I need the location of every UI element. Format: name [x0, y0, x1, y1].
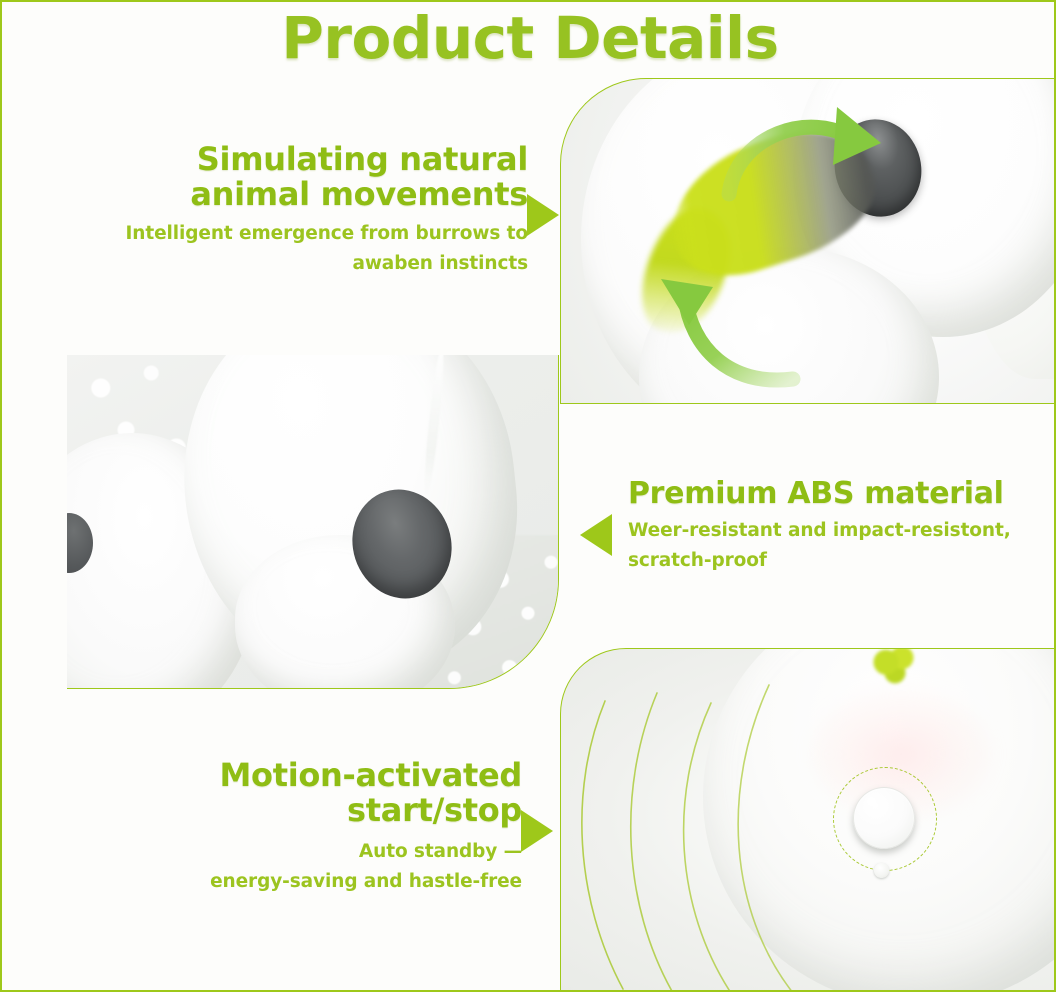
feature-heading-burrow: Simulating natural animal movements: [88, 142, 528, 211]
feature-subtext-burrow: Intelligent emergence from burrows to aw…: [88, 219, 528, 279]
arrow-right-icon-motion: [521, 810, 553, 852]
arrow-right-icon-burrow: [527, 194, 559, 236]
heading-line-1: Simulating natural: [88, 142, 528, 177]
subtext-line-1: Intelligent emergence from burrows to: [88, 219, 528, 249]
subtext-line-2: awaben instincts: [88, 249, 528, 279]
feature-image-motion: [560, 648, 1056, 992]
heading-line-2: start/stop: [92, 793, 522, 828]
power-button[interactable]: [853, 787, 915, 849]
feature-text-motion: Motion-activated start/stop Auto standby…: [92, 758, 522, 897]
status-led: [874, 863, 889, 878]
green-tuft: [871, 648, 921, 685]
subtext-line-1: Auto standby —: [92, 837, 522, 867]
feature-heading-motion: Motion-activated start/stop: [92, 758, 522, 827]
subtext-line-1: Weer-resistant and impact-resistont,: [628, 516, 1048, 546]
feature-heading-abs: Premium ABS material: [628, 478, 1048, 510]
product-details-infographic: Product Details: [0, 0, 1056, 992]
feature-text-abs: Premium ABS material Weer-resistant and …: [628, 478, 1048, 576]
heading-line-2: animal movements: [88, 177, 528, 212]
signal-waves-icon: [561, 649, 1056, 992]
feature-text-burrow: Simulating natural animal movements Inte…: [88, 142, 528, 279]
button-highlight: [867, 797, 876, 806]
arrow-left-icon-abs: [580, 514, 612, 556]
motion-arrows-icon: [561, 79, 1056, 404]
heading-line-1: Motion-activated: [92, 758, 522, 793]
feature-image-burrow: [560, 78, 1056, 404]
feature-subtext-abs: Weer-resistant and impact-resistont, scr…: [628, 516, 1048, 576]
heading-line-1: Premium ABS material: [628, 478, 1048, 510]
subtext-line-2: scratch-proof: [628, 546, 1048, 576]
feature-subtext-motion: Auto standby — energy-saving and hastle-…: [92, 837, 522, 897]
subtext-line-2: energy-saving and hastle-free: [92, 867, 522, 897]
feature-image-abs: [67, 355, 559, 689]
page-title: Product Details: [2, 4, 1056, 72]
